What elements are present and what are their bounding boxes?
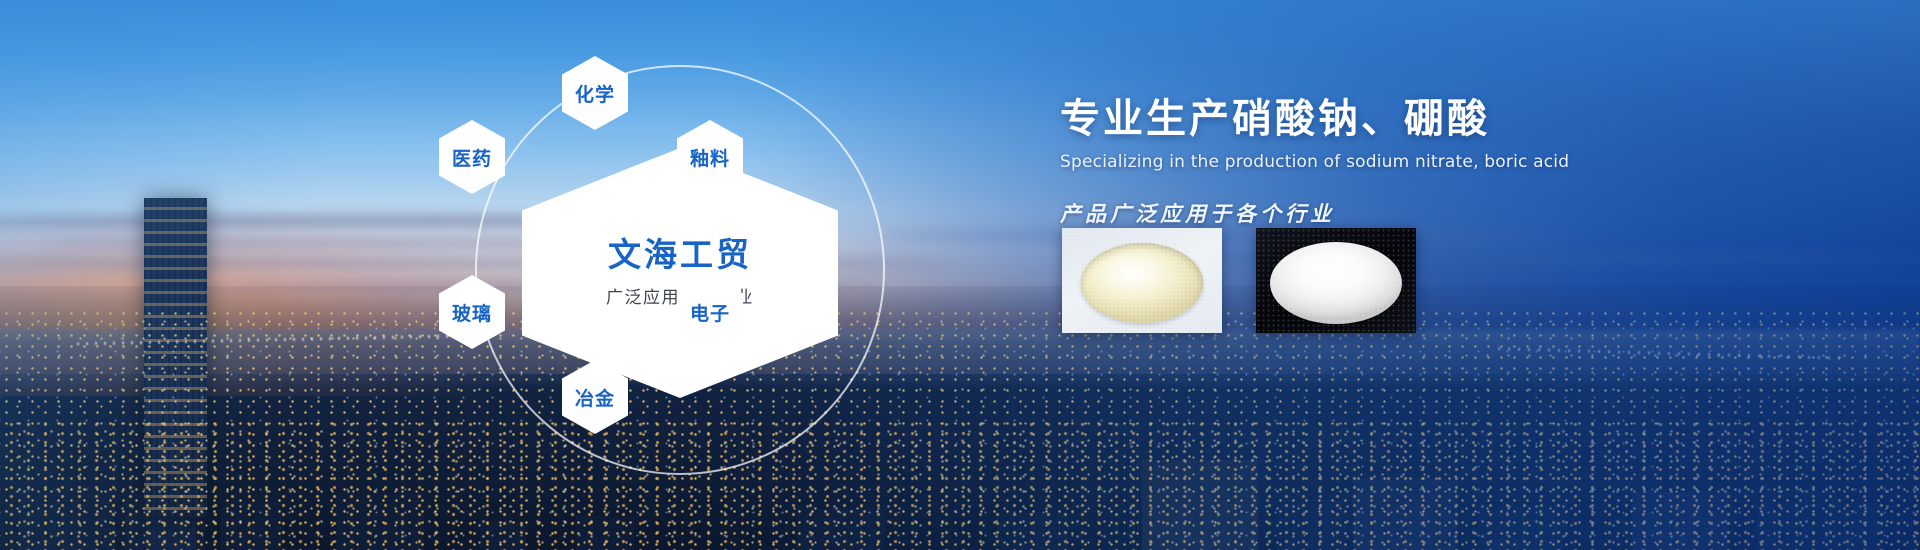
marketing-copy-block: 专业生产硝酸钠、硼酸 Specializing in the productio… (1060, 96, 1760, 228)
powder-grain-texture (1256, 228, 1416, 333)
subheadline-english: Specializing in the production of sodium… (1060, 152, 1760, 172)
promo-banner: 文海工贸 广泛应用各个行业 化学 釉料 电子 冶金 玻璃 医药 专业生产硝酸钠、… (0, 0, 1920, 550)
hexagon-node-label: 医药 (452, 144, 492, 171)
hexagon-node-label: 玻璃 (452, 299, 492, 326)
headline-chinese: 专业生产硝酸钠、硼酸 (1060, 96, 1760, 143)
hexagon-node-label: 电子 (690, 299, 730, 326)
industry-hexagon-diagram: 文海工贸 广泛应用各个行业 化学 釉料 电子 冶金 玻璃 医药 (430, 20, 950, 530)
company-name: 文海工贸 (608, 238, 752, 271)
hexagon-node-label: 化学 (575, 80, 615, 107)
tagline-chinese: 产品广泛应用于各个行业 (1060, 198, 1760, 228)
product-photo-boric-acid (1256, 228, 1416, 333)
product-photo-group (1062, 228, 1416, 333)
hexagon-node-label: 冶金 (575, 384, 615, 411)
product-photo-sodium-nitrate (1062, 228, 1222, 333)
powder-grain-texture (1062, 228, 1222, 333)
hexagon-node-label: 釉料 (690, 144, 730, 171)
